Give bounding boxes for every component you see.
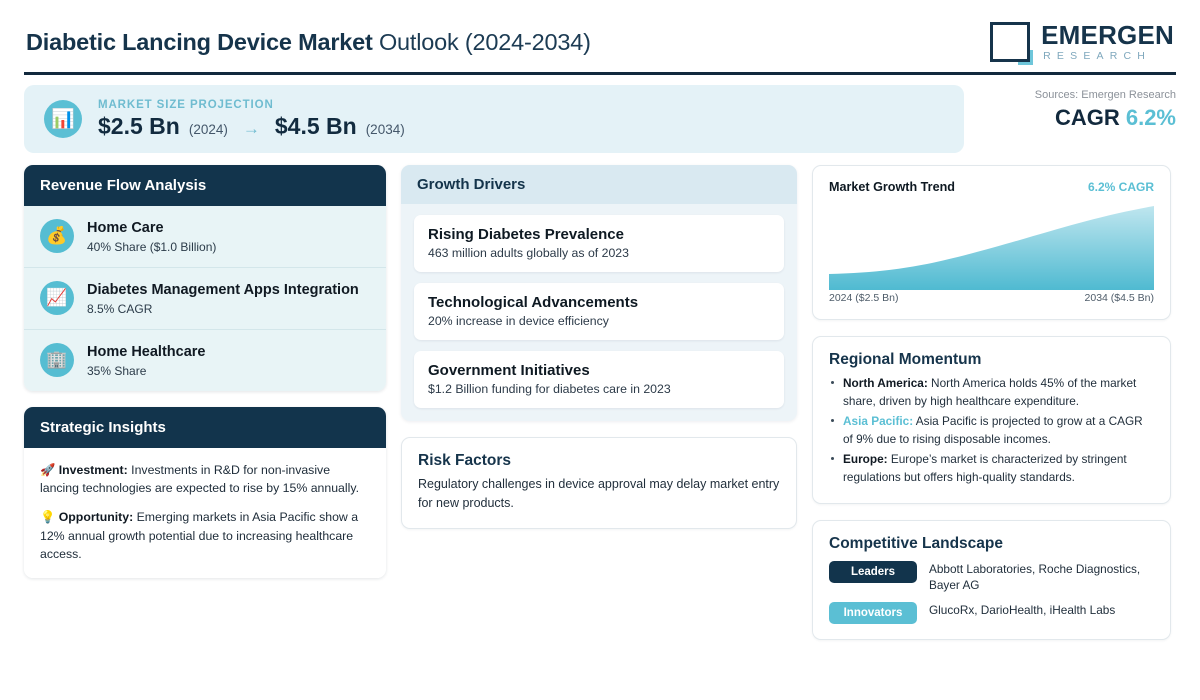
trend-cagr-badge: 6.2% CAGR — [1088, 180, 1154, 194]
market-size-banner-row: 📊 MARKET SIZE PROJECTION $2.5 Bn (2024) … — [24, 85, 1176, 153]
right-column: Market Growth Trend 6.2% CAGR 2024 ($2.5… — [812, 165, 1171, 656]
year-2034: (2034) — [366, 122, 405, 137]
region-label: North America: — [843, 376, 928, 390]
insight-label: Investment: — [59, 463, 128, 477]
rocket-icon: 🚀 — [40, 463, 55, 477]
driver-sub: 463 million adults globally as of 2023 — [428, 246, 770, 260]
page-header: Diabetic Lancing Device Market Outlook (… — [24, 18, 1176, 72]
list-item: Europe: Europe’s market is characterized… — [829, 450, 1154, 486]
logo-name: EMERGEN — [1041, 22, 1174, 48]
list-item: 🏢 Home Healthcare 35% Share — [24, 330, 386, 391]
header-divider — [24, 72, 1176, 75]
risk-factors-card: Risk Factors Regulatory challenges in de… — [401, 437, 797, 529]
market-size-banner: 📊 MARKET SIZE PROJECTION $2.5 Bn (2024) … — [24, 85, 964, 153]
strategic-insights-title: Strategic Insights — [24, 407, 386, 448]
driver-title: Technological Advancements — [428, 294, 770, 311]
trend-title: Market Growth Trend — [829, 180, 955, 194]
cagr-label: CAGR — [1055, 105, 1120, 130]
middle-column: Growth Drivers Rising Diabetes Prevalenc… — [401, 165, 797, 545]
arrow-icon: → — [237, 119, 266, 139]
strategic-insights-body: 🚀 Investment: Investments in R&D for non… — [24, 448, 386, 578]
table-row: Innovators GlucoRx, DarioHealth, iHealth… — [829, 602, 1154, 624]
status-badge-leaders: Leaders — [829, 561, 917, 583]
risk-factors-text: Regulatory challenges in device approval… — [418, 475, 780, 513]
regional-momentum-card: Regional Momentum North America: North A… — [812, 336, 1171, 504]
cagr-value: 6.2% — [1126, 105, 1176, 130]
lightbulb-icon: 💡 — [40, 510, 55, 524]
flow-item-sub: 8.5% CAGR — [87, 302, 359, 316]
leaders-companies: Abbott Laboratories, Roche Diagnostics, … — [929, 561, 1154, 594]
infographic-page: Diabetic Lancing Device Market Outlook (… — [0, 0, 1200, 700]
growth-drivers-panel: Growth Drivers Rising Diabetes Prevalenc… — [401, 165, 797, 421]
flow-item-sub: 35% Share — [87, 364, 205, 378]
flow-item-name: Home Care — [87, 219, 216, 238]
list-item: 📈 Diabetes Management Apps Integration 8… — [24, 268, 386, 330]
trend-header: Market Growth Trend 6.2% CAGR — [829, 180, 1154, 194]
region-label: Asia Pacific: — [843, 414, 913, 428]
status-badge-innovators: Innovators — [829, 602, 917, 624]
trend-label-end: 2034 ($4.5 Bn) — [1085, 292, 1154, 304]
insight-item: 🚀 Investment: Investments in R&D for non… — [40, 461, 370, 498]
driver-sub: 20% increase in device efficiency — [428, 314, 770, 328]
value-2024: $2.5 Bn — [98, 113, 180, 140]
bar-chart-icon: 📊 — [44, 100, 82, 138]
market-size-figures: $2.5 Bn (2024) → $4.5 Bn (2034) — [98, 113, 405, 140]
logo-square-icon — [990, 22, 1030, 62]
driver-title: Rising Diabetes Prevalence — [428, 226, 770, 243]
market-growth-area-chart — [829, 200, 1154, 290]
region-label: Europe: — [843, 452, 888, 466]
page-title: Diabetic Lancing Device Market Outlook (… — [26, 29, 591, 56]
revenue-flow-list: 💰 Home Care 40% Share ($1.0 Billion) 📈 D… — [24, 206, 386, 391]
innovators-companies: GlucoRx, DarioHealth, iHealth Labs — [929, 602, 1115, 619]
competitive-landscape-title: Competitive Landscape — [829, 535, 1154, 553]
flow-item-sub: 40% Share ($1.0 Billion) — [87, 240, 216, 254]
content-columns: Revenue Flow Analysis 💰 Home Care 40% Sh… — [24, 165, 1176, 656]
list-item: Asia Pacific: Asia Pacific is projected … — [829, 412, 1154, 448]
year-2024: (2024) — [189, 122, 228, 137]
cagr-block: Sources: Emergen Research CAGR 6.2% — [980, 85, 1176, 131]
emergen-research-logo: EMERGEN RESEARCH — [990, 22, 1174, 62]
driver-sub: $1.2 Billion funding for diabetes care i… — [428, 382, 770, 396]
revenue-flow-panel: Revenue Flow Analysis 💰 Home Care 40% Sh… — [24, 165, 386, 391]
regional-momentum-title: Regional Momentum — [829, 351, 1154, 369]
insight-label: Opportunity: — [59, 510, 133, 524]
list-item: Government Initiatives $1.2 Billion fund… — [414, 351, 784, 408]
flow-item-name: Home Healthcare — [87, 343, 205, 362]
growth-drivers-title: Growth Drivers — [401, 165, 797, 204]
page-title-light: Outlook (2024-2034) — [373, 29, 591, 55]
sources-text: Sources: Emergen Research — [980, 89, 1176, 101]
table-row: Leaders Abbott Laboratories, Roche Diagn… — [829, 561, 1154, 594]
revenue-flow-title: Revenue Flow Analysis — [24, 165, 386, 206]
market-size-label: MARKET SIZE PROJECTION — [98, 99, 405, 111]
value-2034: $4.5 Bn — [275, 113, 357, 140]
market-growth-trend-card: Market Growth Trend 6.2% CAGR 2024 ($2.5… — [812, 165, 1171, 320]
cagr-headline: CAGR 6.2% — [980, 105, 1176, 131]
trend-axis-labels: 2024 ($2.5 Bn) 2034 ($4.5 Bn) — [829, 292, 1154, 304]
driver-title: Government Initiatives — [428, 362, 770, 379]
logo-subtitle: RESEARCH — [1043, 51, 1174, 62]
chart-increasing-icon: 📈 — [40, 281, 74, 315]
money-bag-icon: 💰 — [40, 219, 74, 253]
office-building-icon: 🏢 — [40, 343, 74, 377]
regional-list: North America: North America holds 45% o… — [829, 374, 1154, 486]
trend-label-start: 2024 ($2.5 Bn) — [829, 292, 898, 304]
list-item: North America: North America holds 45% o… — [829, 374, 1154, 410]
insight-item: 💡 Opportunity: Emerging markets in Asia … — [40, 508, 370, 564]
strategic-insights-panel: Strategic Insights 🚀 Investment: Investm… — [24, 407, 386, 578]
flow-item-name: Diabetes Management Apps Integration — [87, 281, 359, 300]
page-title-strong: Diabetic Lancing Device Market — [26, 29, 373, 55]
competitive-landscape-card: Competitive Landscape Leaders Abbott Lab… — [812, 520, 1171, 640]
growth-drivers-list: Rising Diabetes Prevalence 463 million a… — [401, 204, 797, 421]
list-item: 💰 Home Care 40% Share ($1.0 Billion) — [24, 206, 386, 268]
risk-factors-title: Risk Factors — [418, 452, 780, 470]
left-column: Revenue Flow Analysis 💰 Home Care 40% Sh… — [24, 165, 386, 594]
list-item: Rising Diabetes Prevalence 463 million a… — [414, 215, 784, 272]
list-item: Technological Advancements 20% increase … — [414, 283, 784, 340]
